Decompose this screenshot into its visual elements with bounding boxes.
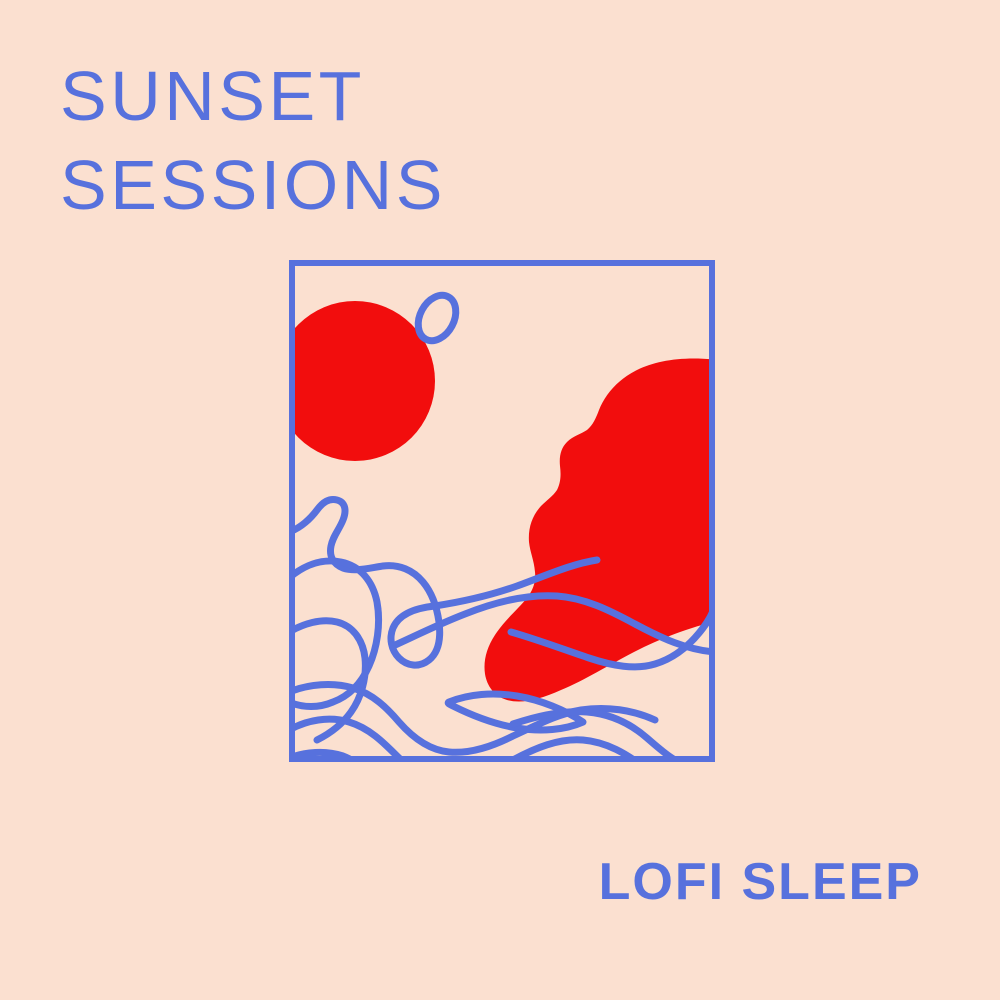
album-cover: SUNSET SESSIONS (0, 0, 1000, 1000)
page-title: SUNSET SESSIONS (60, 52, 700, 230)
artwork-illustration (289, 260, 715, 762)
sun-icon (289, 301, 435, 461)
artwork-frame (289, 260, 715, 762)
title-line-1: SUNSET (60, 52, 700, 141)
artist-name: LOFI SLEEP (599, 853, 922, 911)
wave-line-7 (513, 712, 715, 762)
title-line-2: SESSIONS (60, 141, 700, 230)
artist-credit: LOFI SLEEP (599, 852, 922, 912)
